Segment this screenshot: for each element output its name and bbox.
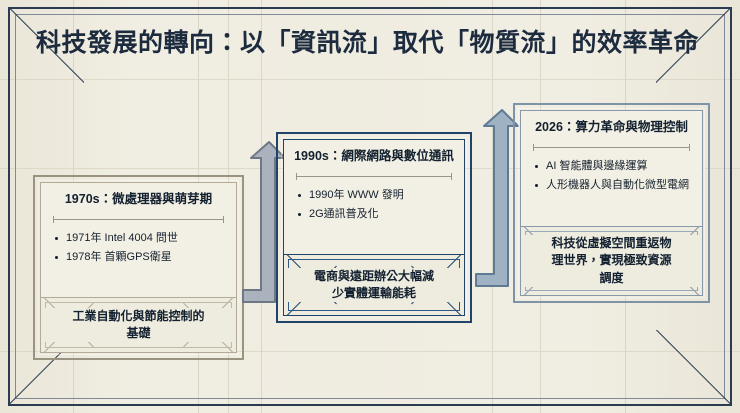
era-card-2026[interactable]: 2026：算力革命與物理控制 AI 智能體與邊緣運算 人形機器人與自動化微型電網 bbox=[520, 110, 703, 227]
era-heading-1990s: 1990s：網際網路與數位通訊 bbox=[294, 149, 454, 165]
list-item: 人形機器人與自動化微型電網 bbox=[531, 177, 692, 194]
era-heading-1970s: 1970s：微處理器與萌芽期 bbox=[51, 192, 226, 208]
guide-line-horizontal bbox=[0, 79, 740, 80]
era-group-2026: 2026：算力革命與物理控制 AI 智能體與邊緣運算 人形機器人與自動化微型電網… bbox=[513, 103, 710, 303]
era-bullet-list-1970s: 1971年 Intel 4004 問世 1978年 首顆GPS衛星 bbox=[51, 230, 226, 266]
list-item: 1978年 首顆GPS衛星 bbox=[51, 249, 226, 266]
page-title: 科技發展的轉向：以「資訊流」取代「物質流」的效率革命 bbox=[36, 30, 699, 58]
title-area: 科技發展的轉向：以「資訊流」取代「物質流」的效率革命 bbox=[36, 22, 704, 66]
list-item: 2G通訊普及化 bbox=[294, 206, 454, 223]
era-bullet-list-2026: AI 智能體與邊緣運算 人形機器人與自動化微型電網 bbox=[531, 158, 692, 194]
heading-divider bbox=[533, 143, 690, 152]
era-card-1970s[interactable]: 1970s：微處理器與萌芽期 1971年 Intel 4004 問世 1978年… bbox=[40, 182, 237, 299]
era-group-1990s: 1990s：網際網路與數位通訊 1990年 WWW 發明 2G通訊普及化 電商與… bbox=[276, 132, 472, 323]
outcome-text-1990s: 電商與遠距辦公大幅減少實體運輸能耗 bbox=[284, 268, 464, 303]
slide-canvas: 科技發展的轉向：以「資訊流」取代「物質流」的效率革命 1970s：微處理器與萌芽… bbox=[0, 0, 740, 413]
list-item: 1971年 Intel 4004 問世 bbox=[51, 230, 226, 247]
era-card-1990s[interactable]: 1990s：網際網路與數位通訊 1990年 WWW 發明 2G通訊普及化 bbox=[283, 139, 465, 256]
list-item: 1990年 WWW 發明 bbox=[294, 187, 454, 204]
outcome-text-1970s: 工業自動化與節能控制的基礎 bbox=[41, 308, 236, 343]
corner-ornament-bottom-right bbox=[656, 330, 730, 404]
era-bullet-list-1990s: 1990年 WWW 發明 2G通訊普及化 bbox=[294, 187, 454, 223]
heading-divider bbox=[53, 215, 224, 224]
heading-divider bbox=[296, 172, 452, 181]
outcome-card-1970s[interactable]: 工業自動化與節能控制的基礎 bbox=[40, 297, 237, 353]
outcome-text-2026: 科技從虛擬空間重返物理世界，實現極致資源調度 bbox=[521, 235, 702, 287]
era-group-1970s: 1970s：微處理器與萌芽期 1971年 Intel 4004 問世 1978年… bbox=[33, 175, 244, 360]
era-heading-2026: 2026：算力革命與物理控制 bbox=[531, 120, 692, 136]
outcome-card-1990s[interactable]: 電商與遠距辦公大幅減少實體運輸能耗 bbox=[283, 254, 465, 316]
outcome-card-2026[interactable]: 科技從虛擬空間重返物理世界，實現極致資源調度 bbox=[520, 226, 703, 296]
list-item: AI 智能體與邊緣運算 bbox=[531, 158, 692, 175]
